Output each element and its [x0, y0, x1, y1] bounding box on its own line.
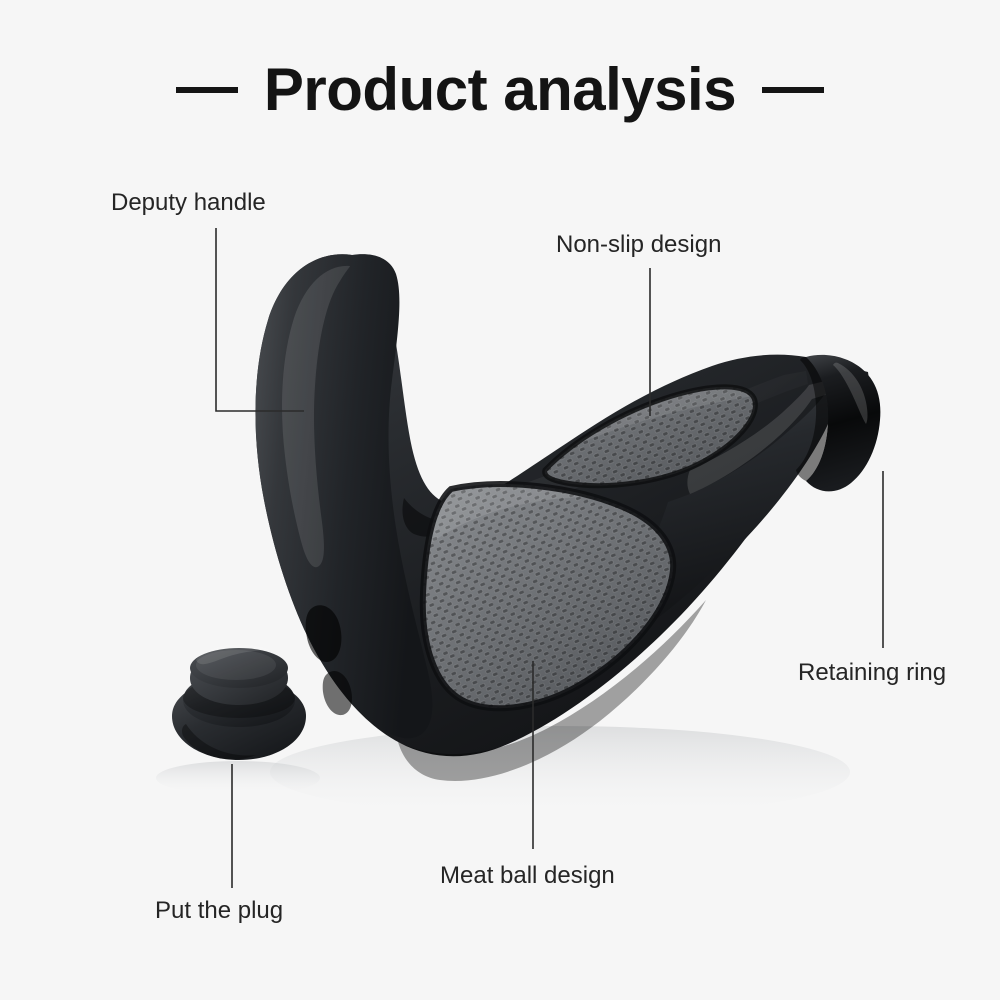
- callout-label-put-the-plug: Put the plug: [155, 899, 283, 923]
- plug-shadow: [156, 761, 320, 795]
- callout-label-meat-ball-design: Meat ball design: [440, 864, 615, 888]
- callout-label-non-slip-design: Non-slip design: [556, 233, 721, 257]
- diagram-canvas: Product analysis: [0, 0, 1000, 1000]
- callout-label-deputy-handle: Deputy handle: [111, 191, 266, 215]
- product-illustration: [0, 0, 1000, 1000]
- bar-end-plug: [172, 644, 306, 760]
- callout-label-retaining-ring: Retaining ring: [798, 661, 946, 685]
